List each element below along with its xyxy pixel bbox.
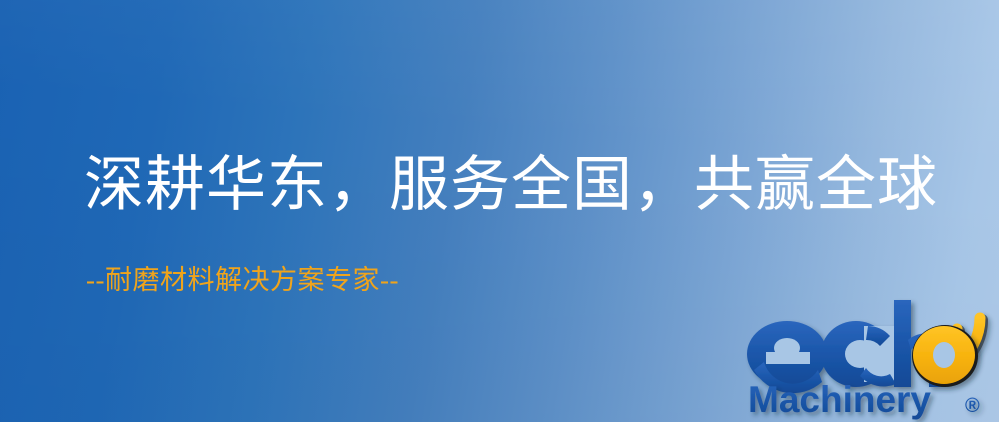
banner-subtitle: --耐磨材料解决方案专家-- bbox=[86, 264, 399, 296]
logo-letter-o bbox=[912, 325, 978, 387]
banner-headline: 深耕华东，服务全国，共赢全球 bbox=[84, 152, 938, 218]
logo-subword: Machinery bbox=[748, 379, 931, 420]
echo-machinery-logo[interactable]: Machinery ® bbox=[744, 296, 999, 422]
logo-letter-c bbox=[821, 321, 896, 387]
logo-registered-mark: ® bbox=[965, 395, 980, 417]
hero-banner: 深耕华东，服务全国，共赢全球 --耐磨材料解决方案专家-- bbox=[0, 0, 999, 422]
